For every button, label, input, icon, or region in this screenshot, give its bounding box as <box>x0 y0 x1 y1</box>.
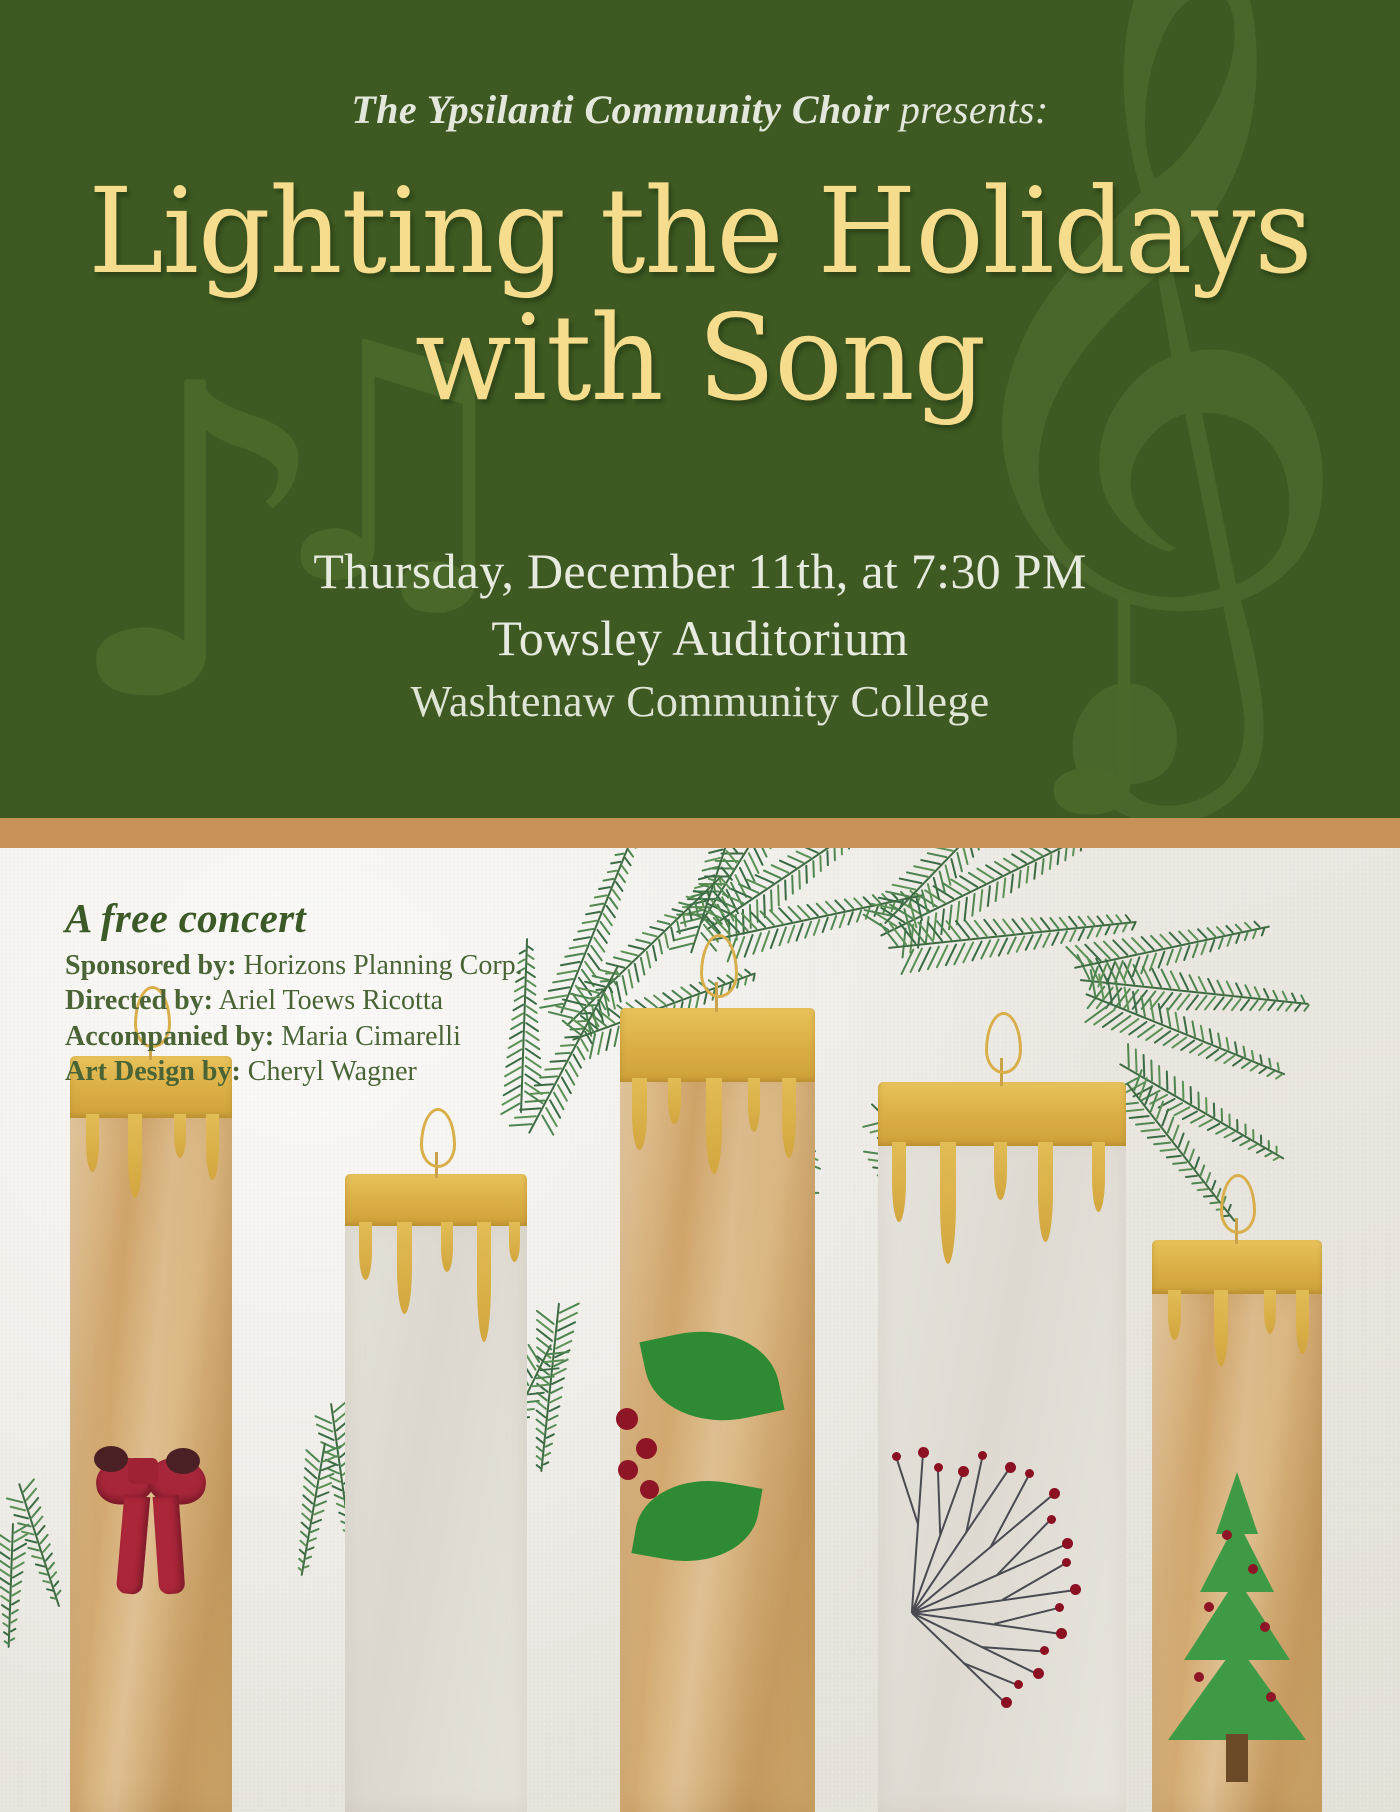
sprig-needle <box>909 902 917 929</box>
sprig-needle <box>529 1091 549 1094</box>
sprig-needle <box>671 989 684 999</box>
holly-berry <box>618 1460 638 1480</box>
sprig-needle <box>620 950 638 956</box>
sprig-needle <box>627 849 634 858</box>
sprig-needle <box>1049 854 1053 870</box>
sprig-needle <box>1087 915 1096 926</box>
sprig-needle <box>11 1590 21 1597</box>
sprig-needle <box>795 850 812 859</box>
sprig-needle <box>322 1454 339 1463</box>
tree-ornament <box>1260 1622 1270 1632</box>
wax-drip <box>782 1078 796 1158</box>
sprig-needle <box>962 848 969 865</box>
sprig-needle <box>1268 1140 1270 1149</box>
wax-drip <box>128 1114 142 1198</box>
sprig-needle <box>1203 1195 1214 1198</box>
sprig-needle <box>595 988 605 991</box>
sprig-needle <box>1205 1172 1211 1184</box>
sprig-needle <box>549 1060 566 1063</box>
sprig-needle <box>9 1505 26 1511</box>
sprig-needle <box>308 1537 317 1542</box>
sprig-needle <box>1172 1161 1187 1165</box>
sprig-needle <box>526 979 537 987</box>
sprig-needle <box>700 884 709 888</box>
sprig-needle <box>1033 862 1037 880</box>
sprig-needle <box>1252 1129 1254 1140</box>
sprig-needle <box>915 895 923 921</box>
sprig-needle <box>1251 1049 1255 1060</box>
credit-value: Ariel Toews Ricotta <box>213 985 443 1016</box>
sprig-needle <box>1141 1128 1161 1132</box>
sprig-needle <box>707 890 711 900</box>
branch-berry <box>1070 1584 1081 1595</box>
sprig-needle <box>1205 1097 1208 1113</box>
sprig-needle <box>1192 943 1199 958</box>
sprig-needle <box>933 877 941 901</box>
sprig-needle <box>592 1015 600 1027</box>
wax-drip <box>994 1142 1007 1200</box>
sprig-needle <box>588 1023 597 1036</box>
presents-word: presents: <box>889 87 1048 132</box>
wax-drip <box>1092 1142 1105 1212</box>
sprig-needle <box>847 911 854 926</box>
sprig-needle <box>1160 1148 1177 1152</box>
artwork-panel: A free concert Sponsored by: Horizons Pl… <box>0 848 1400 1812</box>
sprig-needle <box>1248 1143 1258 1150</box>
sprig-needle <box>13 1542 28 1552</box>
sprig-needle <box>1147 1135 1166 1139</box>
sprig-needle <box>871 903 898 911</box>
sprig-needle <box>678 902 690 907</box>
sprig-needle <box>1266 1070 1275 1077</box>
sprig-needle <box>1197 1188 1209 1191</box>
sprig-needle <box>1236 1119 1238 1132</box>
sprig-needle <box>611 889 621 901</box>
sprig-needle <box>1211 1180 1217 1191</box>
credit-line-accompanied: Accompanied by: Maria Cimarelli <box>65 1019 523 1054</box>
sprig-needle <box>1229 1113 1231 1126</box>
sprig-needle <box>615 881 624 893</box>
sprig-needle <box>319 1473 335 1481</box>
sprig-needle <box>596 1008 604 1019</box>
event-date-time: Thursday, December 11th, at 7:30 PM <box>0 538 1400 605</box>
candle-right-tree <box>1152 1240 1322 1812</box>
sprig-needle <box>878 896 904 903</box>
sprig-needle <box>46 1588 54 1592</box>
sprig-needle <box>50 1571 57 1579</box>
sprig-needle <box>1225 981 1234 996</box>
sprig-needle <box>787 924 796 944</box>
branch-berry <box>1040 1646 1049 1655</box>
sprig-needle <box>1240 1061 1251 1070</box>
wax-drip <box>86 1114 99 1172</box>
sprig-needle <box>1149 952 1158 971</box>
branch-twig <box>963 1662 1018 1685</box>
sprig-needle <box>927 883 935 907</box>
sprig-needle <box>1235 982 1243 996</box>
wax-drip <box>206 1114 219 1180</box>
sprig-needle <box>934 848 954 852</box>
sprig-needle <box>540 1367 560 1371</box>
sprig-needle <box>1259 1054 1263 1065</box>
sprig-needle <box>1042 932 1051 948</box>
sprig-needle <box>1128 1115 1149 1119</box>
sprig-needle <box>921 889 929 914</box>
sprig-needle <box>1221 1108 1223 1122</box>
sprig-needle <box>803 848 819 854</box>
sprig-needle <box>1096 915 1105 925</box>
sprig-needle <box>1183 1140 1190 1155</box>
candle-wax-top <box>620 1008 815 1082</box>
wax-drip <box>632 1078 647 1150</box>
sprig-needle <box>1157 1003 1163 1024</box>
sprig-needle <box>1189 1086 1192 1104</box>
sprig-needle <box>1197 928 1208 939</box>
sprig-needle <box>676 920 681 934</box>
sprig-needle <box>301 1503 312 1513</box>
sprig-needle <box>635 938 651 944</box>
credit-line-sponsored: Sponsored by: Horizons Planning Corp. <box>65 948 523 983</box>
branch-limb <box>911 1454 925 1614</box>
branch-berry <box>1001 1697 1012 1708</box>
sprig-needle <box>1294 1003 1302 1012</box>
wax-drip <box>1214 1290 1228 1366</box>
sprig-needle <box>1080 848 1083 852</box>
sprig-needle <box>1183 1016 1188 1034</box>
sprig-needle <box>819 855 822 872</box>
candle-wax-top <box>878 1082 1126 1146</box>
sprig-needle <box>1226 935 1232 947</box>
sprig-needle <box>752 974 756 982</box>
sprig-needle <box>1200 941 1207 956</box>
candle-body <box>345 1220 527 1812</box>
sprig-needle <box>671 908 683 913</box>
sprig-needle <box>1215 1127 1228 1135</box>
wax-drip <box>1168 1290 1181 1340</box>
sprig-needle <box>1184 1175 1197 1178</box>
event-venue: Towsley Auditorium <box>0 605 1400 672</box>
sprig-needle <box>1231 1135 1243 1143</box>
sprig-needle <box>1260 1135 1262 1145</box>
sprig-needle <box>13 1514 29 1520</box>
sprig-needle <box>311 1519 322 1525</box>
wax-drip <box>1038 1142 1053 1242</box>
holly-berry <box>636 1438 657 1459</box>
sprig-needle <box>1275 1145 1277 1153</box>
sprig-needle <box>1150 1093 1159 1113</box>
wax-drip <box>509 1222 520 1262</box>
presenter-name: The Ypsilanti Community Choir <box>351 87 889 132</box>
candle-left-bow <box>70 1056 232 1812</box>
sprig-needle <box>10 1618 18 1624</box>
sprig-needle <box>713 884 717 893</box>
holly-berry <box>640 1480 659 1499</box>
sprig-needle <box>12 1561 25 1570</box>
sprig-needle <box>1200 1024 1205 1041</box>
sprig-needle <box>1258 1067 1268 1075</box>
sprig-needle <box>1157 950 1165 969</box>
title-line-2: with Song <box>28 295 1372 422</box>
sprig-needle <box>1132 990 1138 1013</box>
sprig-needle <box>805 865 808 884</box>
branch-berry <box>1055 1603 1064 1612</box>
sprig-needle <box>1140 954 1149 974</box>
holly-berry <box>616 1408 638 1430</box>
sprig-needle <box>787 855 804 864</box>
sprig-needle <box>642 932 658 938</box>
sprig-needle <box>680 986 692 996</box>
sprig-needle <box>1276 1002 1285 1012</box>
sprig-needle <box>1155 1101 1164 1120</box>
sprig-needle <box>652 945 658 962</box>
sprig-needle <box>1249 1064 1259 1072</box>
tree-ornament <box>1222 1530 1232 1540</box>
sprig-needle <box>1058 916 1068 929</box>
sprig-needle <box>611 977 617 985</box>
sprig-needle <box>688 908 693 920</box>
sprig-needle <box>534 1083 554 1086</box>
sprig-needle <box>514 1115 537 1119</box>
sprig-needle <box>974 848 980 851</box>
branch-berry <box>1056 1628 1067 1639</box>
branch-berry <box>1062 1538 1073 1549</box>
sprig-needle <box>316 1491 330 1498</box>
sprig-needle <box>900 948 915 975</box>
event-details: Thursday, December 11th, at 7:30 PM Tows… <box>0 538 1400 732</box>
wax-drip <box>892 1142 906 1222</box>
sprig-needle <box>543 1461 550 1466</box>
branch-twig <box>997 1519 1051 1575</box>
sprig-needle <box>1161 1108 1169 1126</box>
divider-bar <box>0 818 1400 848</box>
berry-branch-decoration <box>878 1312 1126 1732</box>
candle-short-left <box>345 1174 527 1812</box>
sprig-needle <box>833 848 836 861</box>
wax-drip <box>1264 1290 1276 1334</box>
sprig-needle <box>821 917 829 934</box>
sprig-needle <box>50 1596 57 1600</box>
sprig-needle <box>795 922 804 941</box>
sprig-needle <box>1135 1049 1138 1073</box>
sprig-needle <box>700 896 704 907</box>
sprig-needle <box>532 1383 550 1387</box>
sprig-needle <box>1166 1116 1174 1133</box>
tree-trunk <box>1226 1734 1248 1782</box>
sprig-needle <box>1200 1164 1206 1176</box>
sprig-needle <box>544 1359 565 1363</box>
tree-ornament <box>1266 1692 1276 1702</box>
tree-ornament <box>1204 1602 1214 1612</box>
sprig-needle <box>528 1392 545 1396</box>
candle-wax-top <box>345 1174 527 1226</box>
branch-twig <box>895 1456 919 1525</box>
poster-header: 𝄞 ♪ ♫ ♩ The Ypsilanti Community Choir pr… <box>0 0 1400 818</box>
sprig-needle <box>1264 1152 1273 1158</box>
sprig-needle <box>544 1068 562 1071</box>
sprig-needle <box>47 1562 55 1571</box>
sprig-needle <box>1276 1062 1279 1071</box>
sprig-needle <box>1234 923 1243 932</box>
sprig-needle <box>310 1528 320 1534</box>
sprig-needle <box>1208 1028 1213 1044</box>
sprig-needle <box>664 933 669 949</box>
sprig-needle <box>12 1552 26 1561</box>
sprig-needle <box>826 850 829 867</box>
credit-label: Art Design by: <box>65 1056 241 1087</box>
sprig-needle <box>536 1375 555 1379</box>
sprig-needle <box>519 1107 541 1111</box>
sprig-needle <box>307 1546 316 1551</box>
sprig-needle <box>1068 916 1078 928</box>
sprig-needle <box>526 962 535 969</box>
sprig-needle <box>1064 848 1068 861</box>
sprig-needle <box>12 1571 24 1579</box>
sprig-needle <box>324 1445 342 1454</box>
branch-twig <box>937 1468 941 1536</box>
concert-poster: 𝄞 ♪ ♫ ♩ The Ypsilanti Community Choir pr… <box>0 0 1400 1812</box>
sprig-needle <box>305 1555 313 1560</box>
sprig-needle <box>658 939 663 955</box>
sprig-needle <box>1256 1148 1266 1154</box>
sprig-needle <box>584 1030 593 1044</box>
sprig-needle <box>689 984 700 993</box>
branch-twig <box>989 1474 1029 1548</box>
sprig-needle <box>321 1463 337 1471</box>
wax-drip <box>748 1078 760 1132</box>
sprig-needle <box>1209 1201 1219 1204</box>
sprig-needle <box>524 1099 545 1102</box>
branch-berry <box>1005 1462 1016 1473</box>
sprig-needle <box>1077 915 1087 926</box>
sprig-needle <box>1033 933 1042 950</box>
sprig-needle <box>1285 1002 1293 1012</box>
sprig-needle <box>1223 1131 1236 1139</box>
wax-drip <box>174 1114 186 1158</box>
sprig-needle <box>682 914 687 927</box>
sprig-needle <box>1002 877 1006 898</box>
bow-knot <box>128 1458 158 1484</box>
branch-berry <box>958 1466 969 1477</box>
sprig-needle <box>968 848 975 858</box>
sprig-needle <box>548 1351 570 1355</box>
red-bow-decoration <box>94 1444 218 1604</box>
tree-ornament <box>1194 1672 1204 1682</box>
sprig-needle <box>843 898 854 909</box>
bow-pom-left <box>94 1446 128 1472</box>
bow-tail-left <box>116 1495 150 1595</box>
sprig-needle <box>526 996 538 1005</box>
branch-twig <box>993 1607 1059 1625</box>
sprig-needle <box>1153 1142 1171 1146</box>
sprig-needle <box>526 954 534 961</box>
sprig-needle <box>1206 927 1216 938</box>
sprig-needle <box>53 1580 59 1587</box>
sprig-needle <box>1191 1020 1196 1037</box>
sprig-needle <box>885 890 910 897</box>
sprig-needle <box>1239 1139 1250 1146</box>
bow-tail-right <box>153 1495 186 1595</box>
sprig-needle <box>656 920 670 925</box>
sprig-needle <box>1166 1007 1171 1027</box>
sprig-needle <box>920 859 941 865</box>
sprig-needle <box>664 914 677 919</box>
branch-limb <box>911 1612 1006 1704</box>
credits-block: A free concert Sponsored by: Horizons Pl… <box>65 894 523 1089</box>
sprig-needle <box>695 995 700 1009</box>
sprig-needle <box>899 878 923 885</box>
pine-sprig <box>0 1522 49 1649</box>
credit-line-art-design: Art Design by: Cheryl Wagner <box>65 1054 523 1089</box>
sprig-needle <box>313 1509 325 1515</box>
sprig-needle <box>543 1452 551 1457</box>
sprig-needle <box>1244 922 1252 930</box>
sprig-needle <box>1174 1012 1179 1031</box>
sprig-needle <box>1127 1043 1130 1068</box>
sprig-needle <box>778 926 787 947</box>
free-concert-tagline: A free concert <box>65 894 523 942</box>
sprig-needle <box>599 1000 606 1011</box>
sprig-needle <box>927 852 948 858</box>
sprig-needle <box>686 896 697 901</box>
event-institution: Washtenaw Community College <box>0 672 1400 732</box>
sprig-needle <box>1025 866 1029 884</box>
branch-berry <box>1033 1668 1044 1679</box>
title-line-1: Lighting the Holidays <box>28 168 1372 295</box>
sprig-needle <box>1272 1156 1280 1162</box>
candle-wax-top <box>1152 1240 1322 1294</box>
sprig-needle <box>1194 1156 1200 1169</box>
branch-berry <box>918 1447 929 1458</box>
wax-drip <box>441 1222 453 1272</box>
sprig-needle <box>1135 1122 1156 1126</box>
sprig-needle <box>1010 873 1014 893</box>
sprig-needle <box>613 956 632 963</box>
sprig-needle <box>1174 947 1182 964</box>
sprig-needle <box>11 1599 21 1606</box>
sprig-needle <box>1213 1102 1216 1117</box>
sprig-needle <box>1140 995 1146 1017</box>
sprig-needle <box>769 928 778 949</box>
sprig-needle <box>670 926 675 941</box>
sprig-needle <box>1197 1092 1200 1109</box>
branch-berry <box>1062 1558 1071 1567</box>
sprig-needle <box>693 890 703 894</box>
sprig-needle <box>830 915 837 931</box>
sprig-needle <box>525 1005 538 1015</box>
sprig-needle <box>544 1442 553 1448</box>
wax-drip <box>359 1222 372 1280</box>
branch-berry <box>934 1463 943 1472</box>
credit-label: Accompanied by: <box>65 1021 274 1052</box>
sprig-needle <box>707 878 716 882</box>
sprig-needle <box>1207 977 1216 993</box>
page-title: Lighting the Holidays with Song <box>28 168 1372 423</box>
candle-center-tall <box>620 1008 815 1812</box>
sprig-needle <box>892 884 916 891</box>
sprig-needle <box>618 873 627 884</box>
sprig-needle <box>649 926 664 932</box>
wax-drip <box>668 1078 681 1124</box>
sprig-needle <box>1225 924 1234 933</box>
sprig-needle <box>640 957 646 976</box>
sprig-needle <box>10 1609 19 1615</box>
sprig-needle <box>6 1497 24 1503</box>
sprig-needle <box>1189 1148 1196 1162</box>
sprig-needle <box>9 1637 15 1642</box>
sprig-needle <box>913 865 935 872</box>
sprig-needle <box>1267 1001 1276 1012</box>
branch-berry <box>1047 1515 1056 1524</box>
